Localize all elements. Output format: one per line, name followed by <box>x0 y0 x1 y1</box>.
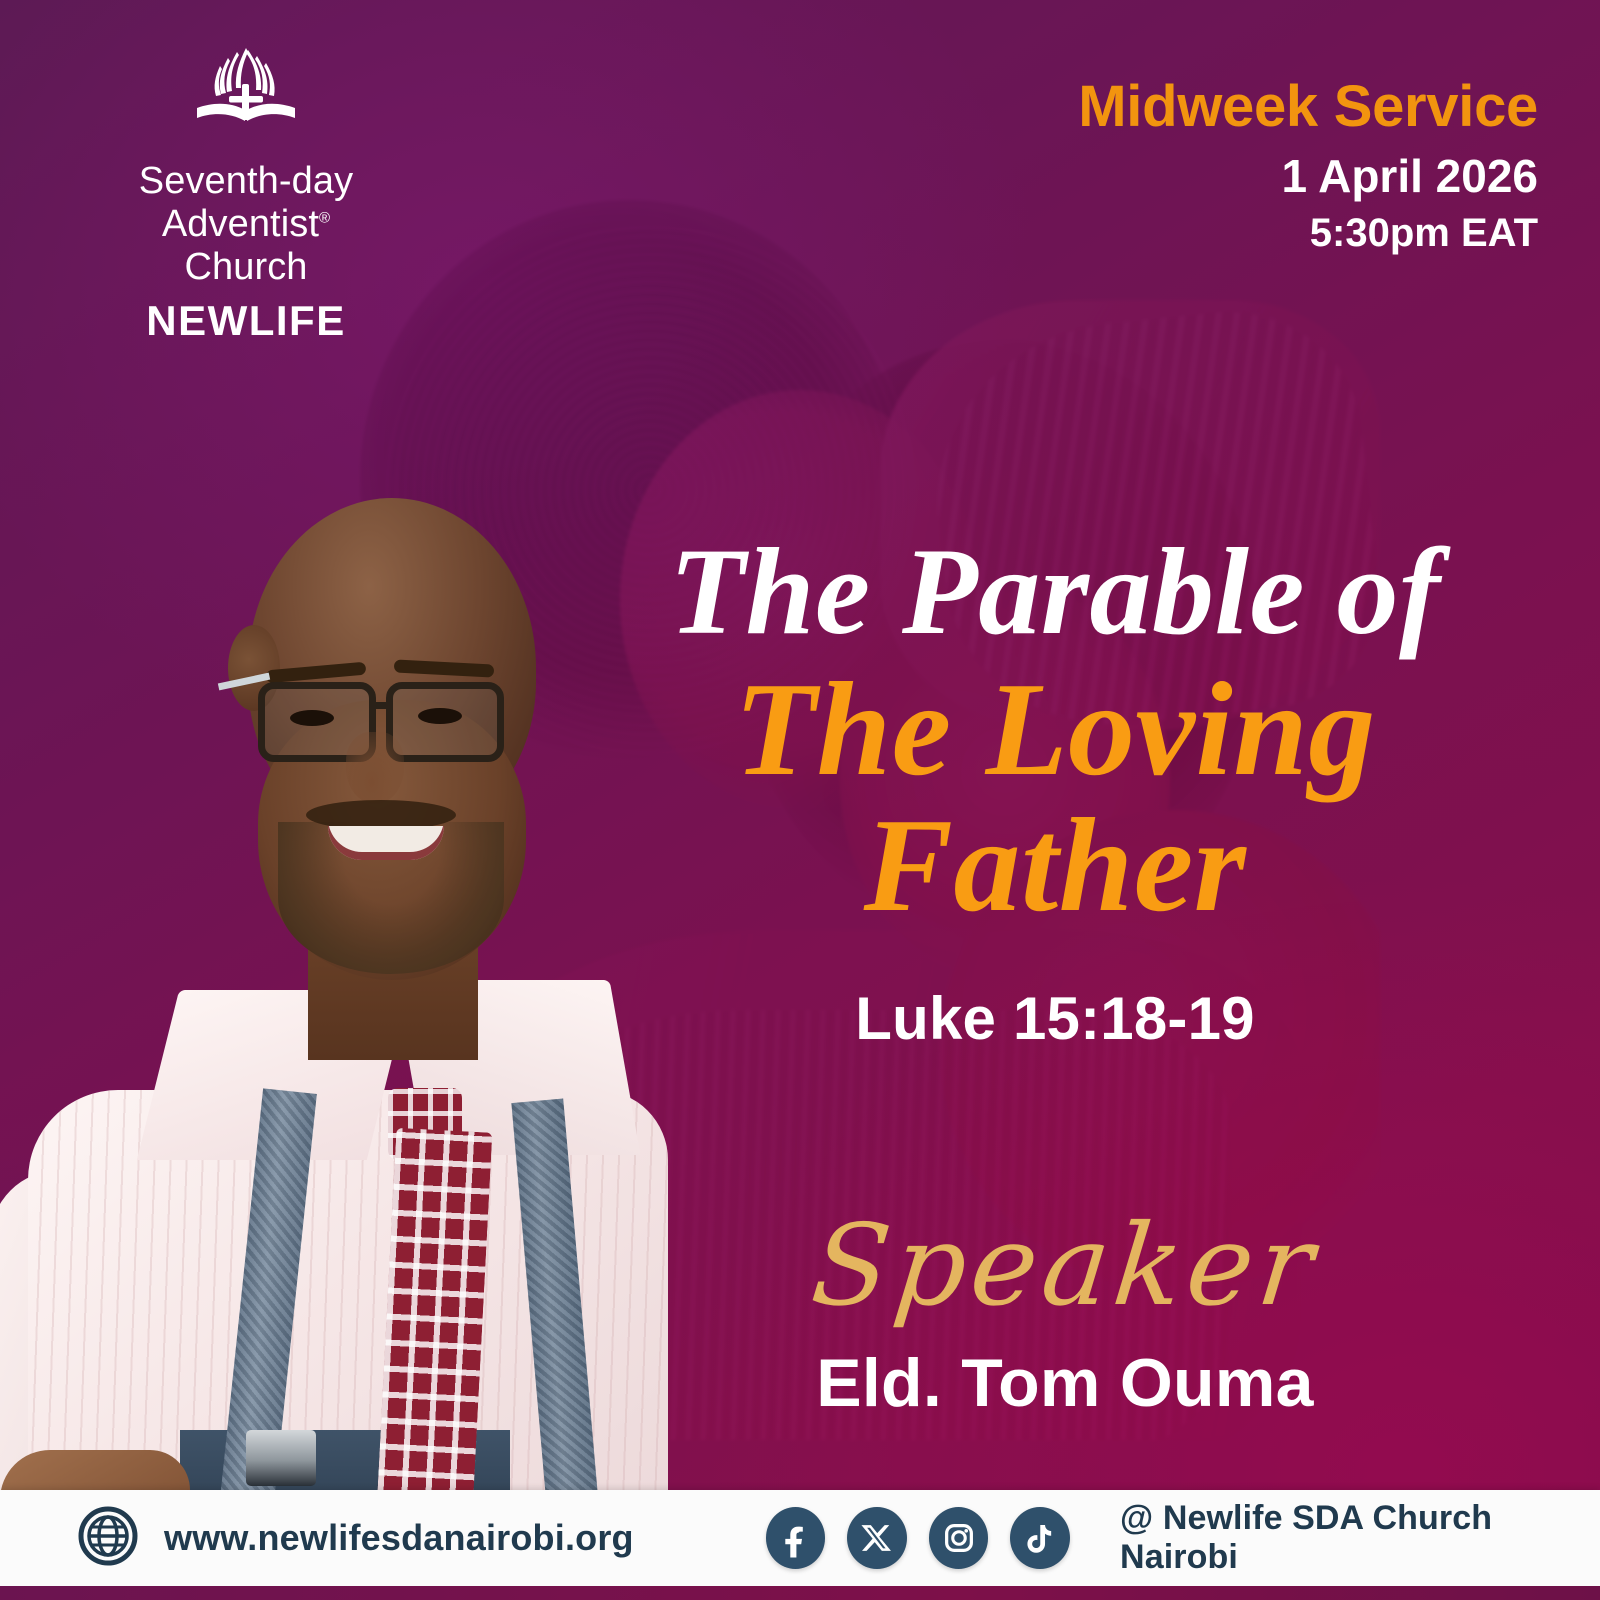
service-time: 5:30pm EAT <box>1078 211 1538 255</box>
service-type: Midweek Service <box>1078 76 1538 139</box>
instagram-icon[interactable] <box>929 1507 989 1569</box>
title-line-2: The Loving <box>560 662 1550 796</box>
service-date: 1 April 2026 <box>1078 151 1538 202</box>
logo-line2-adventist: Adventist <box>162 203 319 245</box>
speaker-name: Eld. Tom Ouma <box>600 1344 1530 1422</box>
speaker-label: Speaker <box>807 1210 1323 1322</box>
x-twitter-icon[interactable] <box>847 1507 907 1569</box>
sermon-title-block: The Parable of The Loving Father Luke 15… <box>560 530 1550 1053</box>
facebook-icon[interactable] <box>766 1507 826 1569</box>
sda-flame-bible-logo <box>191 44 301 152</box>
church-name: NEWLIFE <box>96 297 396 345</box>
social-handle[interactable]: @ Newlife SDA Church Nairobi <box>1120 1499 1600 1577</box>
event-poster: Seventh-day Adventist® Church NEWLIFE Mi… <box>0 0 1600 1600</box>
logo-line2-church: Church <box>184 246 307 288</box>
church-logo-block: Seventh-day Adventist® Church NEWLIFE <box>96 44 396 345</box>
registered-mark: ® <box>319 209 330 226</box>
globe-icon <box>78 1506 138 1571</box>
logo-line1: Seventh-day <box>96 160 396 203</box>
website-url[interactable]: www.newlifesdanairobi.org <box>164 1517 634 1559</box>
title-line-3: Father <box>560 798 1550 932</box>
service-header: Midweek Service 1 April 2026 5:30pm EAT <box>1078 76 1538 255</box>
logo-line2: Adventist® Church <box>96 203 396 289</box>
website-group[interactable]: www.newlifesdanairobi.org <box>78 1506 634 1571</box>
social-icons-group: @ Newlife SDA Church Nairobi <box>766 1499 1600 1577</box>
speaker-block: Speaker Eld. Tom Ouma <box>600 1210 1530 1422</box>
footer-bar: www.newlifesdanairobi.org <box>0 1490 1600 1586</box>
footer-accent-strip <box>0 1586 1600 1600</box>
title-line-1: The Parable of <box>560 530 1550 654</box>
scripture-reference: Luke 15:18-19 <box>560 984 1550 1053</box>
tiktok-icon[interactable] <box>1010 1507 1070 1569</box>
